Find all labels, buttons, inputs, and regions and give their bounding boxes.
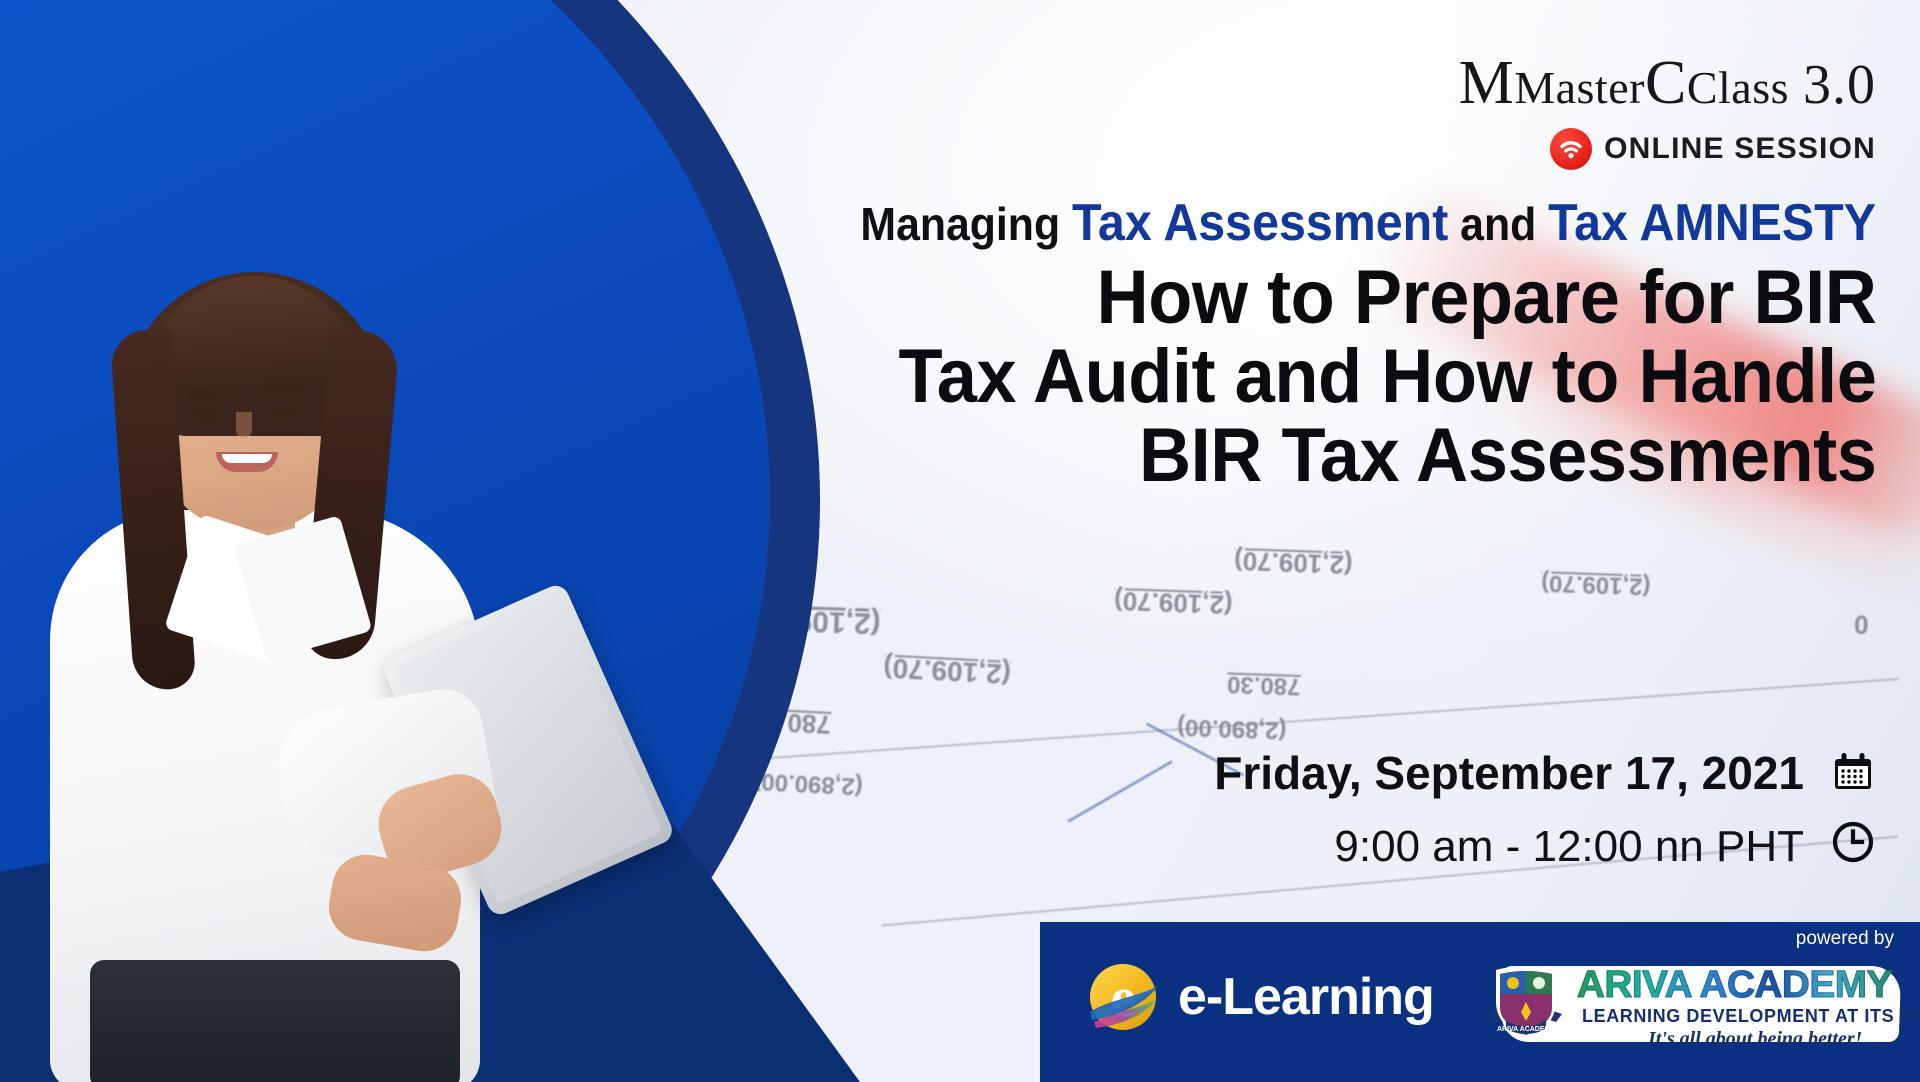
ariva-academy-name: ARIVA ACADEMY bbox=[1577, 966, 1892, 1004]
masterclass-lass: Class bbox=[1687, 62, 1789, 113]
masterclass-m: M bbox=[1459, 49, 1515, 117]
online-session-label: ONLINE SESSION bbox=[1604, 132, 1876, 166]
e-learning-e-icon: e bbox=[1082, 956, 1164, 1038]
ariva-academy-tagline: LEARNING DEVELOPMENT AT ITS FINEST bbox=[1582, 1006, 1920, 1027]
elearning-label: e-Learning bbox=[1178, 967, 1434, 1027]
svg-text:ARIVA ACADEMY: ARIVA ACADEMY bbox=[1497, 1026, 1555, 1033]
schedule-block: Friday, September 17, 2021 9:00 am - 12:… bbox=[1214, 746, 1876, 872]
page-title: How to Prepare for BIR Tax Audit and How… bbox=[898, 258, 1876, 495]
footer-bar: powered by bbox=[1040, 922, 1920, 1082]
event-date: Friday, September 17, 2021 bbox=[1214, 746, 1804, 800]
promo-banner: (2,109.70) (2,109.70) (2,109.70) (2,109.… bbox=[0, 0, 1920, 1082]
masterclass-aster: Master bbox=[1514, 62, 1645, 113]
ariva-academy-logo: ARIVA ACADEMY ARIVA ACADEMY LEARNING DEV… bbox=[1480, 950, 1900, 1054]
masterclass-title: MMasterCClass3.0 bbox=[1459, 52, 1876, 114]
masterclass-version: 3.0 bbox=[1803, 54, 1876, 116]
wifi-icon bbox=[1550, 128, 1592, 170]
online-session-row: ONLINE SESSION bbox=[1459, 128, 1876, 170]
title-line-2: Tax Audit and How to Handle bbox=[898, 337, 1876, 416]
masterclass-branding: MMasterCClass3.0 ONLINE SESSION bbox=[1459, 52, 1876, 170]
masterclass-c: C bbox=[1645, 49, 1687, 117]
powered-by-label: powered by bbox=[1796, 928, 1894, 950]
time-row: 9:00 am - 12:00 nn PHT bbox=[1214, 812, 1876, 872]
date-row: Friday, September 17, 2021 bbox=[1214, 746, 1876, 800]
ariva-academy-slogan: It's all about being better! bbox=[1648, 1028, 1862, 1051]
ariva-crest-icon: ARIVA ACADEMY bbox=[1480, 958, 1572, 1050]
kicker-tax-assessment: Tax Assessment bbox=[1072, 194, 1448, 252]
calendar-icon bbox=[1830, 750, 1876, 796]
event-time: 9:00 am - 12:00 nn PHT bbox=[1334, 822, 1804, 872]
title-line-3: BIR Tax Assessments bbox=[898, 416, 1876, 495]
kicker-managing: Managing bbox=[860, 198, 1060, 250]
kicker-and: and bbox=[1460, 198, 1536, 250]
kicker-line: Managing Tax Assessment and Tax AMNESTY bbox=[860, 196, 1876, 251]
title-line-1: How to Prepare for BIR bbox=[898, 258, 1876, 337]
clock-icon bbox=[1830, 819, 1876, 865]
avatar bbox=[30, 180, 550, 1082]
elearning-logo: e e-Learning bbox=[1082, 956, 1434, 1038]
kicker-tax-amnesty: Tax AMNESTY bbox=[1548, 194, 1876, 252]
